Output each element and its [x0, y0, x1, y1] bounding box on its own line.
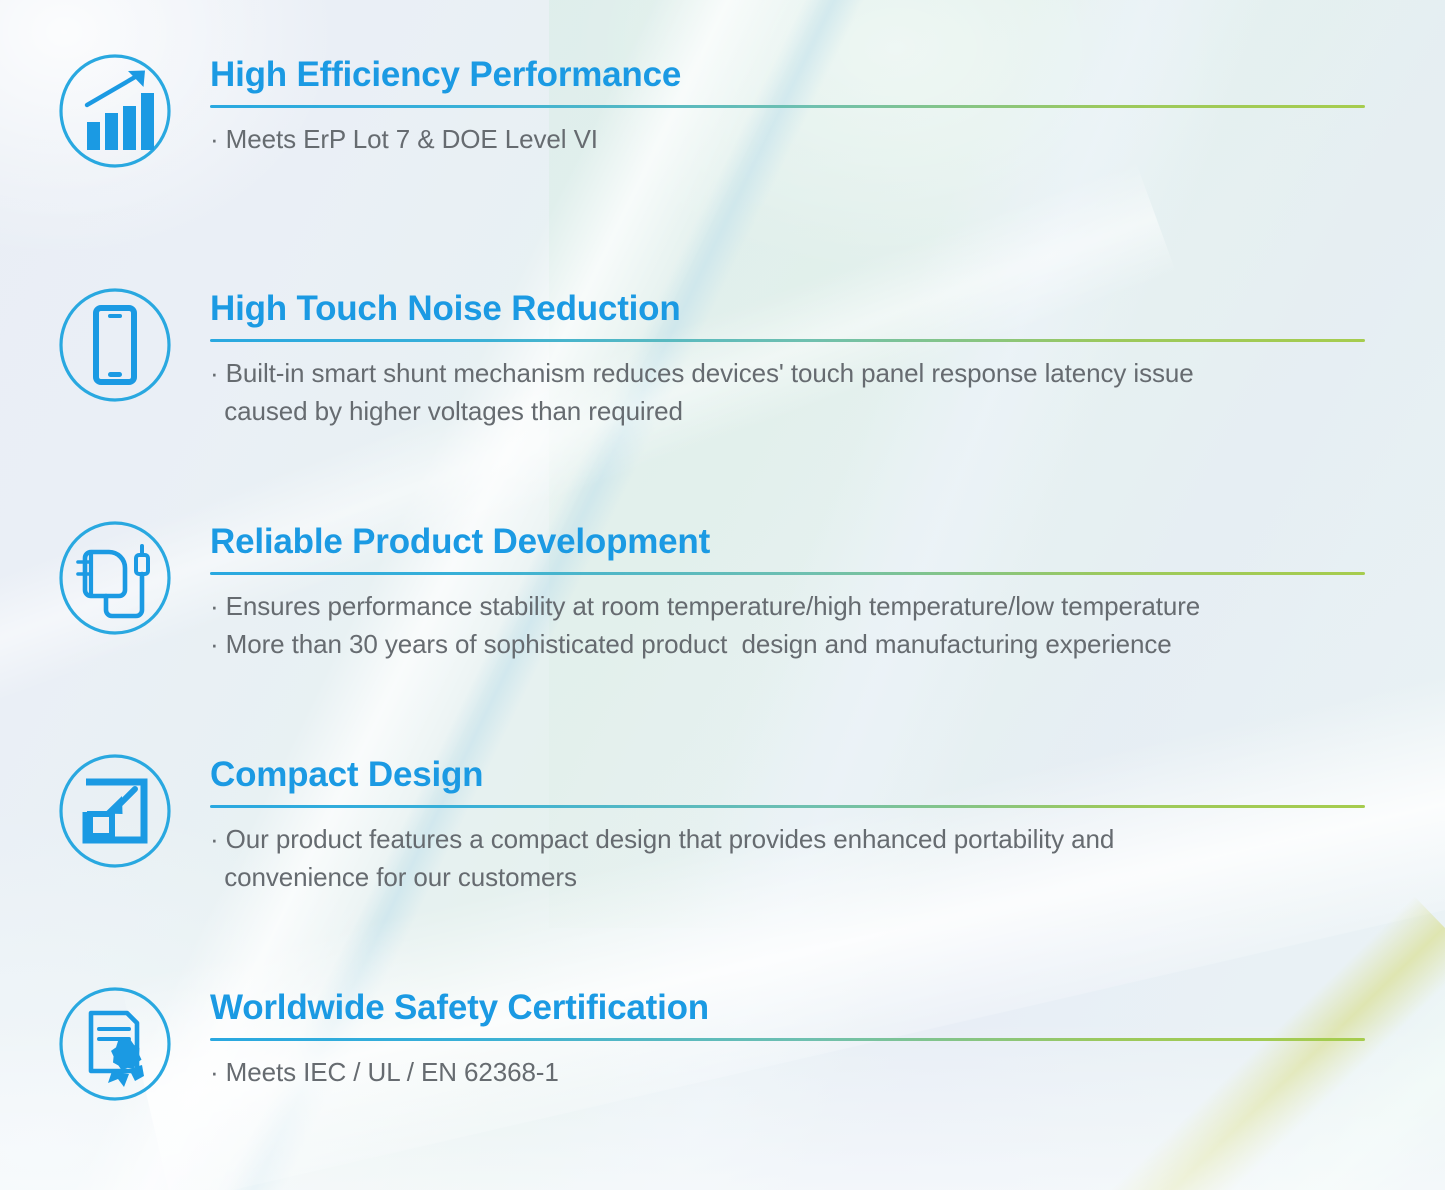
feature-body: High Efficiency Performance · Meets ErP …: [210, 52, 1425, 158]
compact-resize-icon: [56, 752, 174, 870]
feature-body: High Touch Noise Reduction · Built-in sm…: [210, 286, 1425, 430]
background-streak-5: [120, 643, 1445, 1190]
feature-line: convenience for our customers: [210, 858, 1425, 896]
feature-body: Worldwide Safety Certification · Meets I…: [210, 985, 1425, 1091]
power-adapter-icon: [56, 519, 174, 637]
feature-item-compact-design: Compact Design · Our product features a …: [0, 752, 1425, 896]
bar-chart-growth-icon: [56, 52, 174, 170]
feature-item-high-touch-noise-reduction: High Touch Noise Reduction · Built-in sm…: [0, 286, 1425, 430]
feature-body: Reliable Product Development · Ensures p…: [210, 519, 1425, 663]
certificate-seal-icon: [56, 985, 174, 1103]
feature-line: · More than 30 years of sophisticated pr…: [210, 625, 1425, 663]
feature-line: · Meets ErP Lot 7 & DOE Level VI: [210, 120, 1425, 158]
feature-divider: [210, 105, 1365, 108]
feature-line: · Built-in smart shunt mechanism reduces…: [210, 354, 1425, 392]
feature-line: · Ensures performance stability at room …: [210, 587, 1425, 625]
background-streak-4: [0, 161, 1177, 753]
feature-description: · Meets ErP Lot 7 & DOE Level VI: [210, 120, 1425, 158]
feature-title: Compact Design: [210, 754, 1425, 796]
feature-title: Reliable Product Development: [210, 521, 1425, 563]
feature-line: · Meets IEC / UL / EN 62368-1: [210, 1053, 1425, 1091]
feature-description: · Our product features a compact design …: [210, 820, 1425, 896]
feature-item-reliable-product-development: Reliable Product Development · Ensures p…: [0, 519, 1425, 663]
feature-divider: [210, 339, 1365, 342]
feature-line: · Our product features a compact design …: [210, 820, 1425, 858]
feature-body: Compact Design · Our product features a …: [210, 752, 1425, 896]
feature-title: High Touch Noise Reduction: [210, 288, 1425, 330]
feature-title: High Efficiency Performance: [210, 54, 1425, 96]
feature-divider: [210, 1038, 1365, 1041]
feature-title: Worldwide Safety Certification: [210, 987, 1425, 1029]
feature-item-worldwide-safety-certification: Worldwide Safety Certification · Meets I…: [0, 985, 1425, 1103]
feature-description: · Ensures performance stability at room …: [210, 587, 1425, 663]
feature-description: · Meets IEC / UL / EN 62368-1: [210, 1053, 1425, 1091]
smartphone-icon: [56, 286, 174, 404]
feature-line: caused by higher voltages than required: [210, 392, 1425, 430]
feature-divider: [210, 572, 1365, 575]
feature-item-high-efficiency-performance: High Efficiency Performance · Meets ErP …: [0, 52, 1425, 170]
feature-description: · Built-in smart shunt mechanism reduces…: [210, 354, 1425, 430]
feature-divider: [210, 805, 1365, 808]
